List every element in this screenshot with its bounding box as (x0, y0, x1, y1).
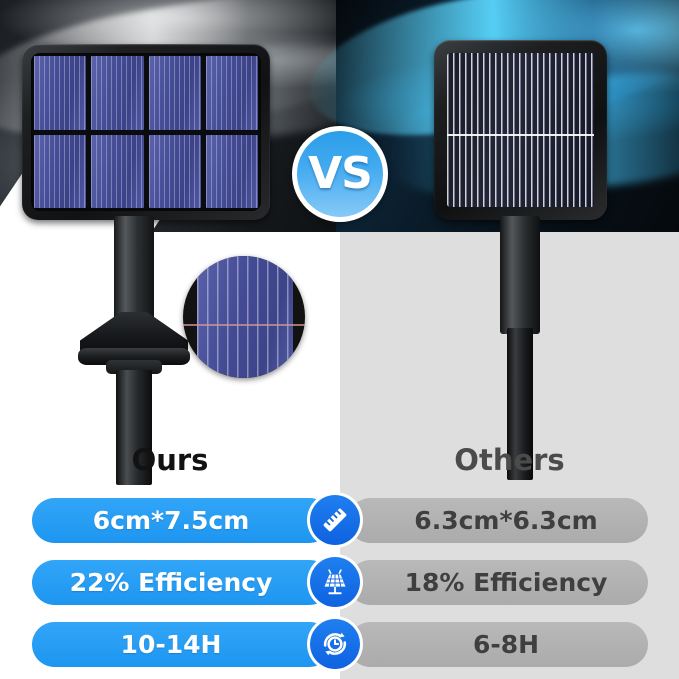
comparison-row-efficiency: 22% Efficiency 18% Efficiency (0, 554, 679, 611)
ours-value-size: 6cm*7.5cm (32, 498, 332, 543)
solar-cell (149, 135, 201, 209)
others-value-size: 6.3cm*6.3cm (348, 498, 648, 543)
ours-value-runtime: 10-14H (32, 622, 332, 667)
solar-cell (34, 135, 86, 209)
solar-cell (91, 56, 143, 130)
others-busbar-line (447, 134, 594, 136)
ours-mount-neck (114, 216, 154, 328)
others-value-efficiency: 18% Efficiency (348, 560, 648, 605)
solar-cell (206, 135, 258, 209)
runtime-clock-icon-circle (310, 619, 360, 669)
ruler-icon-circle (310, 495, 360, 545)
others-panel-frame (434, 40, 607, 220)
ours-product-image (22, 44, 272, 444)
magnified-solar-cell (197, 256, 293, 378)
others-column-label: Others (340, 446, 679, 475)
solar-cell (206, 56, 258, 130)
others-value-runtime: 6-8H (348, 622, 648, 667)
vs-badge-circle: VS (297, 131, 383, 217)
ours-panel-frame (22, 44, 270, 220)
comparison-row-size: 6cm*7.5cm 6.3cm*6.3cm (0, 492, 679, 549)
comparison-infographic: VS Ours Others 6cm*7.5cm 6.3cm*6.3cm (0, 0, 679, 679)
cell-closeup-magnifier (183, 256, 305, 378)
ours-column-label: Ours (0, 446, 340, 475)
ours-value-efficiency: 22% Efficiency (32, 560, 332, 605)
others-panel-cell (447, 53, 594, 207)
solar-panel-icon-circle (310, 557, 360, 607)
solar-cell (149, 56, 201, 130)
comparison-rows: 6cm*7.5cm 6.3cm*6.3cm (0, 492, 679, 678)
vs-badge: VS (292, 126, 388, 222)
others-product-image (434, 40, 614, 440)
solar-cell (34, 56, 86, 130)
ours-panel-cell-grid (31, 53, 261, 211)
solar-cell (91, 135, 143, 209)
solar-panel-icon (307, 554, 363, 610)
magnified-busbar-line (183, 324, 305, 326)
comparison-row-runtime: 10-14H 6-8H (0, 616, 679, 673)
others-mount-neck (500, 216, 540, 334)
vs-badge-label: VS (308, 152, 372, 196)
ruler-icon (307, 492, 363, 548)
runtime-clock-icon (307, 616, 363, 672)
